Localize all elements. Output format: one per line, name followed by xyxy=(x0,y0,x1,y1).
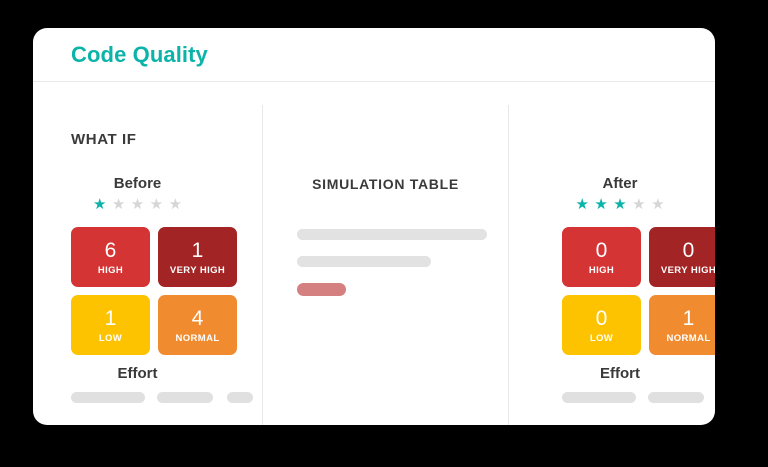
metric-label: HIGH xyxy=(98,266,123,276)
metric-label: NORMAL xyxy=(175,334,219,344)
metric-value: 1 xyxy=(105,308,117,329)
before-effort-bars xyxy=(71,392,237,403)
star-icon: ★ xyxy=(594,197,607,212)
simulation-row-placeholder xyxy=(297,256,431,267)
metric-tile-high[interactable]: 0 HIGH xyxy=(562,227,641,287)
star-icon: ★ xyxy=(613,197,626,212)
star-icon: ★ xyxy=(150,197,163,212)
effort-pill xyxy=(71,392,145,403)
metric-label: LOW xyxy=(99,334,122,344)
metric-tile-high[interactable]: 6 HIGH xyxy=(71,227,150,287)
simulation-row-placeholder-accent xyxy=(297,283,346,296)
star-icon: ★ xyxy=(651,197,664,212)
after-effort-bars xyxy=(562,392,715,403)
metric-label: HIGH xyxy=(589,266,614,276)
metric-tile-low[interactable]: 1 LOW xyxy=(71,295,150,355)
metric-value: 0 xyxy=(596,308,608,329)
star-icon: ★ xyxy=(93,197,106,212)
effort-pill xyxy=(157,392,213,403)
metric-value: 6 xyxy=(105,240,117,261)
simulation-table-rows xyxy=(297,229,497,312)
simulation-row-placeholder xyxy=(297,229,487,240)
metric-value: 4 xyxy=(192,308,204,329)
after-star-rating: ★ ★ ★ ★ ★ xyxy=(517,197,715,213)
code-quality-card: Code Quality WHAT IF Before ★ ★ ★ ★ ★ 6 … xyxy=(33,28,715,425)
metric-label: LOW xyxy=(590,334,613,344)
star-icon: ★ xyxy=(575,197,588,212)
after-effort-label: Effort xyxy=(517,365,715,382)
metric-value: 0 xyxy=(596,240,608,261)
metric-tile-low[interactable]: 0 LOW xyxy=(562,295,641,355)
before-panel: WHAT IF Before ★ ★ ★ ★ ★ 6 HIGH 1 VERY H… xyxy=(33,83,262,425)
metric-tile-normal[interactable]: 1 NORMAL xyxy=(649,295,715,355)
star-icon: ★ xyxy=(112,197,125,212)
metric-value: 1 xyxy=(683,308,695,329)
star-icon: ★ xyxy=(169,197,182,212)
metric-tile-very-high[interactable]: 0 VERY HIGH xyxy=(649,227,715,287)
metric-tile-very-high[interactable]: 1 VERY HIGH xyxy=(158,227,237,287)
star-icon: ★ xyxy=(632,197,645,212)
before-star-rating: ★ ★ ★ ★ ★ xyxy=(33,197,252,213)
after-heading: After xyxy=(517,175,715,192)
before-metric-tiles: 6 HIGH 1 VERY HIGH 1 LOW 4 NORMAL xyxy=(71,227,237,355)
before-effort-label: Effort xyxy=(33,365,252,382)
metric-label: VERY HIGH xyxy=(170,266,225,276)
after-metric-tiles: 0 HIGH 0 VERY HIGH 0 LOW 1 NORMAL xyxy=(562,227,715,355)
what-if-label: WHAT IF xyxy=(71,131,137,148)
card-header: Code Quality xyxy=(33,28,715,82)
after-panel: After ★ ★ ★ ★ ★ 0 HIGH 0 VERY HIGH 0 xyxy=(509,83,715,425)
star-icon: ★ xyxy=(131,197,144,212)
card-body: WHAT IF Before ★ ★ ★ ★ ★ 6 HIGH 1 VERY H… xyxy=(33,83,715,425)
metric-label: VERY HIGH xyxy=(661,266,715,276)
effort-pill xyxy=(562,392,636,403)
metric-tile-normal[interactable]: 4 NORMAL xyxy=(158,295,237,355)
effort-pill xyxy=(648,392,704,403)
metric-value: 0 xyxy=(683,240,695,261)
simulation-table-panel: SIMULATION TABLE xyxy=(263,83,508,425)
metric-label: NORMAL xyxy=(666,334,710,344)
simulation-table-heading: SIMULATION TABLE xyxy=(263,176,508,192)
page-title: Code Quality xyxy=(71,42,208,68)
metric-value: 1 xyxy=(192,240,204,261)
effort-pill xyxy=(227,392,253,403)
before-heading: Before xyxy=(33,175,252,192)
